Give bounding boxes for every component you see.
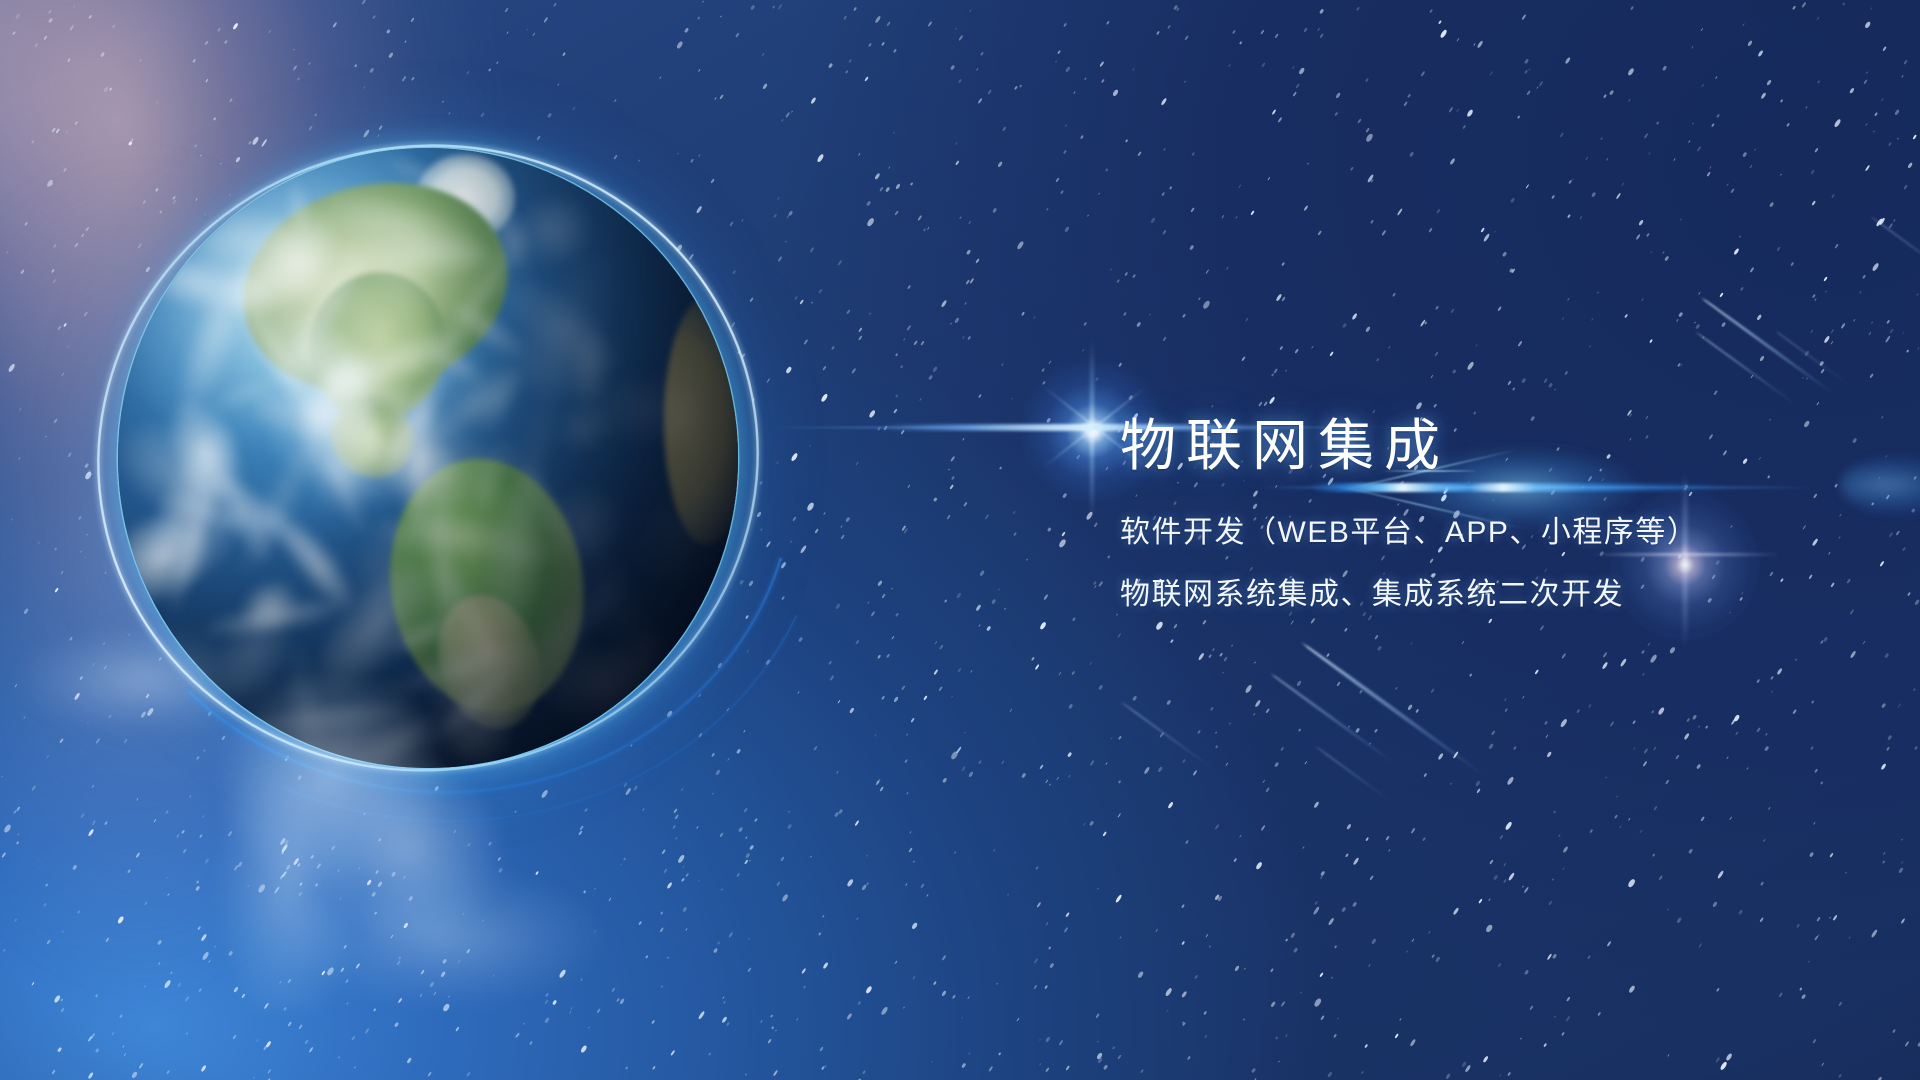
- page-title: 物联网集成: [1120, 418, 1840, 474]
- subtitle-line-2: 物联网系统集成、集成系统二次开发: [1120, 580, 1840, 610]
- hero-banner: 物联网集成 软件开发（WEB平台、APP、小程序等） 物联网系统集成、集成系统二…: [0, 0, 1920, 1080]
- hero-copy: 物联网集成 软件开发（WEB平台、APP、小程序等） 物联网系统集成、集成系统二…: [1120, 418, 1840, 610]
- subtitle-line-1: 软件开发（WEB平台、APP、小程序等）: [1120, 518, 1840, 548]
